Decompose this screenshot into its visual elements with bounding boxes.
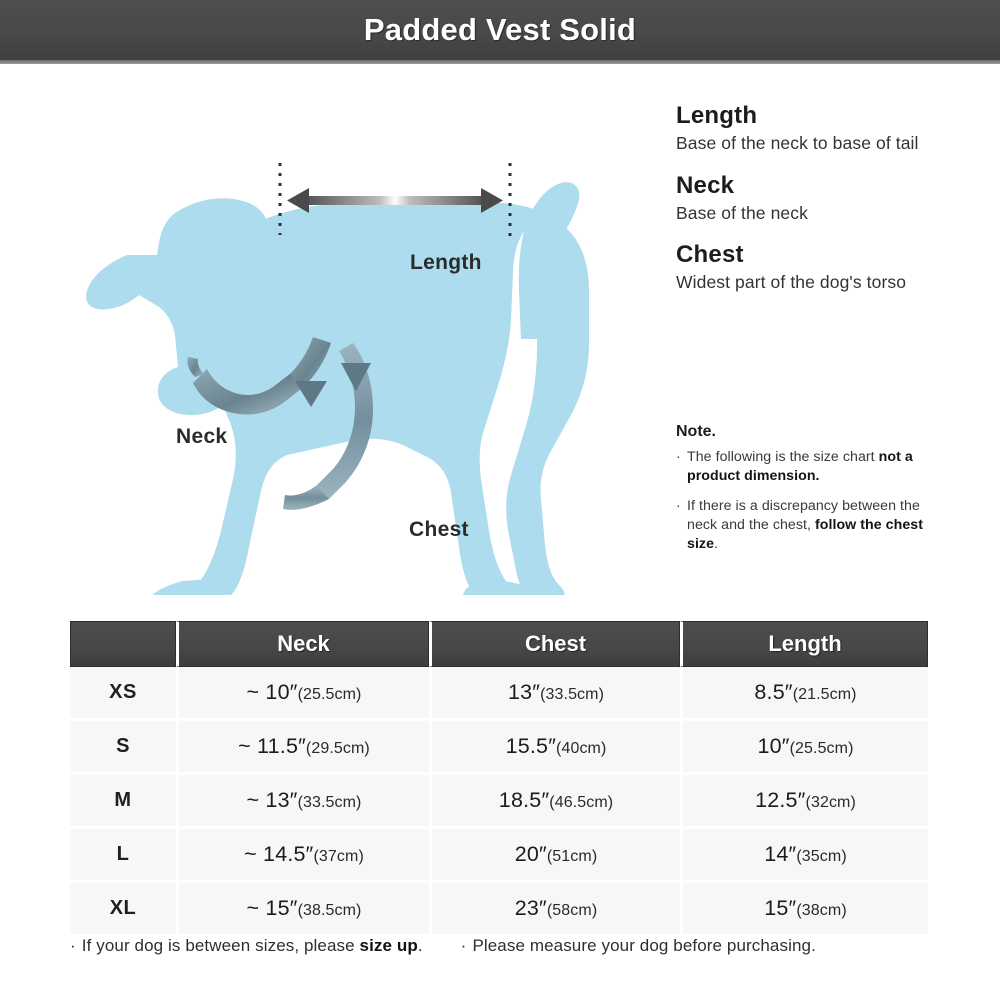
footer-note-2-text: Please measure your dog before purchasin… bbox=[472, 936, 815, 955]
value-main: 8.5″ bbox=[754, 680, 792, 704]
value-sub: (25.5cm) bbox=[790, 740, 854, 757]
table-row: XS ~ 10″(25.5cm) 13″(33.5cm) 8.5″(21.5cm… bbox=[70, 667, 928, 721]
definition-length: Length Base of the neck to base of tail bbox=[676, 103, 976, 155]
footer-notes: ·If your dog is between sizes, please si… bbox=[70, 936, 970, 956]
value-sub: (32cm) bbox=[806, 794, 856, 811]
value-main: 13″ bbox=[508, 680, 540, 704]
cell-neck-xl: ~ 15″(38.5cm) bbox=[176, 883, 429, 934]
value-sub: (33.5cm) bbox=[540, 686, 604, 703]
note-title: Note. bbox=[676, 423, 942, 441]
cell-neck-l: ~ 14.5″(37cm) bbox=[176, 829, 429, 883]
value-sub: (29.5cm) bbox=[306, 740, 370, 757]
note-item-1: ·The following is the size chart not a p… bbox=[676, 448, 942, 486]
value-sub: (35cm) bbox=[796, 848, 846, 865]
dog-measurement-diagram: Length Neck Chest bbox=[55, 95, 655, 595]
table-row: L ~ 14.5″(37cm) 20″(51cm) 14″(35cm) bbox=[70, 829, 928, 883]
cell-chest-xl: 23″(58cm) bbox=[429, 883, 680, 934]
cell-length-xl: 15″(38cm) bbox=[680, 883, 928, 934]
table-header-chest: Chest bbox=[429, 621, 680, 667]
value-main: 12.5″ bbox=[755, 788, 805, 812]
footer-note-2: ·Please measure your dog before purchasi… bbox=[461, 936, 816, 956]
value-sub: (38cm) bbox=[796, 902, 846, 919]
footer-note-1-text: If your dog is between sizes, please bbox=[82, 936, 360, 955]
cell-neck-xs: ~ 10″(25.5cm) bbox=[176, 667, 429, 721]
value-main: 10″ bbox=[757, 734, 789, 758]
value-sub: (33.5cm) bbox=[298, 794, 362, 811]
cell-length-l: 14″(35cm) bbox=[680, 829, 928, 883]
value-sub: (25.5cm) bbox=[298, 686, 362, 703]
value-sub: (21.5cm) bbox=[793, 686, 857, 703]
cell-length-m: 12.5″(32cm) bbox=[680, 775, 928, 829]
note-item-1-text: The following is the size chart bbox=[687, 449, 879, 465]
header-divider bbox=[0, 60, 1000, 64]
definition-desc-length: Base of the neck to base of tail bbox=[676, 132, 976, 154]
cell-chest-m: 18.5″(46.5cm) bbox=[429, 775, 680, 829]
table-header-neck: Neck bbox=[176, 621, 429, 667]
table-row: XL ~ 15″(38.5cm) 23″(58cm) 15″(38cm) bbox=[70, 883, 928, 934]
size-chart-table: Neck Chest Length XS ~ 10″(25.5cm) 13″(3… bbox=[70, 621, 928, 934]
definition-neck: Neck Base of the neck bbox=[676, 173, 976, 225]
table-header-row: Neck Chest Length bbox=[70, 621, 928, 667]
value-main: 15″ bbox=[764, 896, 796, 920]
page-header-bar: Padded Vest Solid bbox=[0, 0, 1000, 60]
note-box: Note. ·The following is the size chart n… bbox=[676, 423, 942, 553]
cell-length-s: 10″(25.5cm) bbox=[680, 721, 928, 775]
value-main: 15.5″ bbox=[506, 734, 556, 758]
cell-size-l: L bbox=[70, 829, 176, 883]
value-main: 14″ bbox=[764, 842, 796, 866]
cell-chest-l: 20″(51cm) bbox=[429, 829, 680, 883]
bullet-icon: · bbox=[676, 448, 681, 467]
cell-chest-xs: 13″(33.5cm) bbox=[429, 667, 680, 721]
cell-size-m: M bbox=[70, 775, 176, 829]
table-header-size bbox=[70, 621, 176, 667]
value-main: 18.5″ bbox=[499, 788, 549, 812]
dog-silhouette-icon bbox=[86, 182, 589, 595]
diagram-label-neck: Neck bbox=[176, 425, 227, 449]
value-main: 20″ bbox=[515, 842, 547, 866]
definition-chest: Chest Widest part of the dog's torso bbox=[676, 242, 976, 294]
diagram-label-length: Length bbox=[410, 251, 482, 275]
cell-neck-s: ~ 11.5″(29.5cm) bbox=[176, 721, 429, 775]
cell-length-xs: 8.5″(21.5cm) bbox=[680, 667, 928, 721]
value-sub: (38.5cm) bbox=[298, 902, 362, 919]
bullet-icon: · bbox=[70, 936, 76, 955]
value-sub: (51cm) bbox=[547, 848, 597, 865]
measurement-definitions-panel: Length Base of the neck to base of tail … bbox=[676, 103, 976, 294]
page-title: Padded Vest Solid bbox=[364, 12, 636, 48]
table-row: S ~ 11.5″(29.5cm) 15.5″(40cm) 10″(25.5cm… bbox=[70, 721, 928, 775]
bullet-icon: · bbox=[461, 936, 467, 955]
value-main: 23″ bbox=[515, 896, 547, 920]
definition-desc-chest: Widest part of the dog's torso bbox=[676, 271, 976, 293]
value-sub: (37cm) bbox=[314, 848, 364, 865]
diagram-label-chest: Chest bbox=[409, 518, 469, 542]
cell-size-xs: XS bbox=[70, 667, 176, 721]
cell-size-s: S bbox=[70, 721, 176, 775]
footer-note-1: ·If your dog is between sizes, please si… bbox=[70, 936, 423, 956]
note-item-2-after: . bbox=[714, 536, 718, 552]
cell-chest-s: 15.5″(40cm) bbox=[429, 721, 680, 775]
value-main: ~ 14.5″ bbox=[244, 842, 313, 866]
value-sub: (40cm) bbox=[556, 740, 606, 757]
bullet-icon: · bbox=[676, 497, 681, 516]
definition-desc-neck: Base of the neck bbox=[676, 202, 976, 224]
table-header-length: Length bbox=[680, 621, 928, 667]
definition-term-length: Length bbox=[676, 103, 976, 128]
table-row: M ~ 13″(33.5cm) 18.5″(46.5cm) 12.5″(32cm… bbox=[70, 775, 928, 829]
cell-neck-m: ~ 13″(33.5cm) bbox=[176, 775, 429, 829]
footer-note-1-bold: size up bbox=[360, 936, 418, 955]
value-main: ~ 13″ bbox=[247, 788, 298, 812]
value-main: ~ 10″ bbox=[247, 680, 298, 704]
value-main: ~ 15″ bbox=[247, 896, 298, 920]
definition-term-neck: Neck bbox=[676, 173, 976, 198]
value-main: ~ 11.5″ bbox=[238, 734, 306, 758]
value-sub: (58cm) bbox=[547, 902, 597, 919]
value-sub: (46.5cm) bbox=[549, 794, 613, 811]
note-item-2: ·If there is a discrepancy between the n… bbox=[676, 497, 942, 554]
footer-note-1-after: . bbox=[418, 936, 423, 955]
definition-term-chest: Chest bbox=[676, 242, 976, 267]
cell-size-xl: XL bbox=[70, 883, 176, 934]
